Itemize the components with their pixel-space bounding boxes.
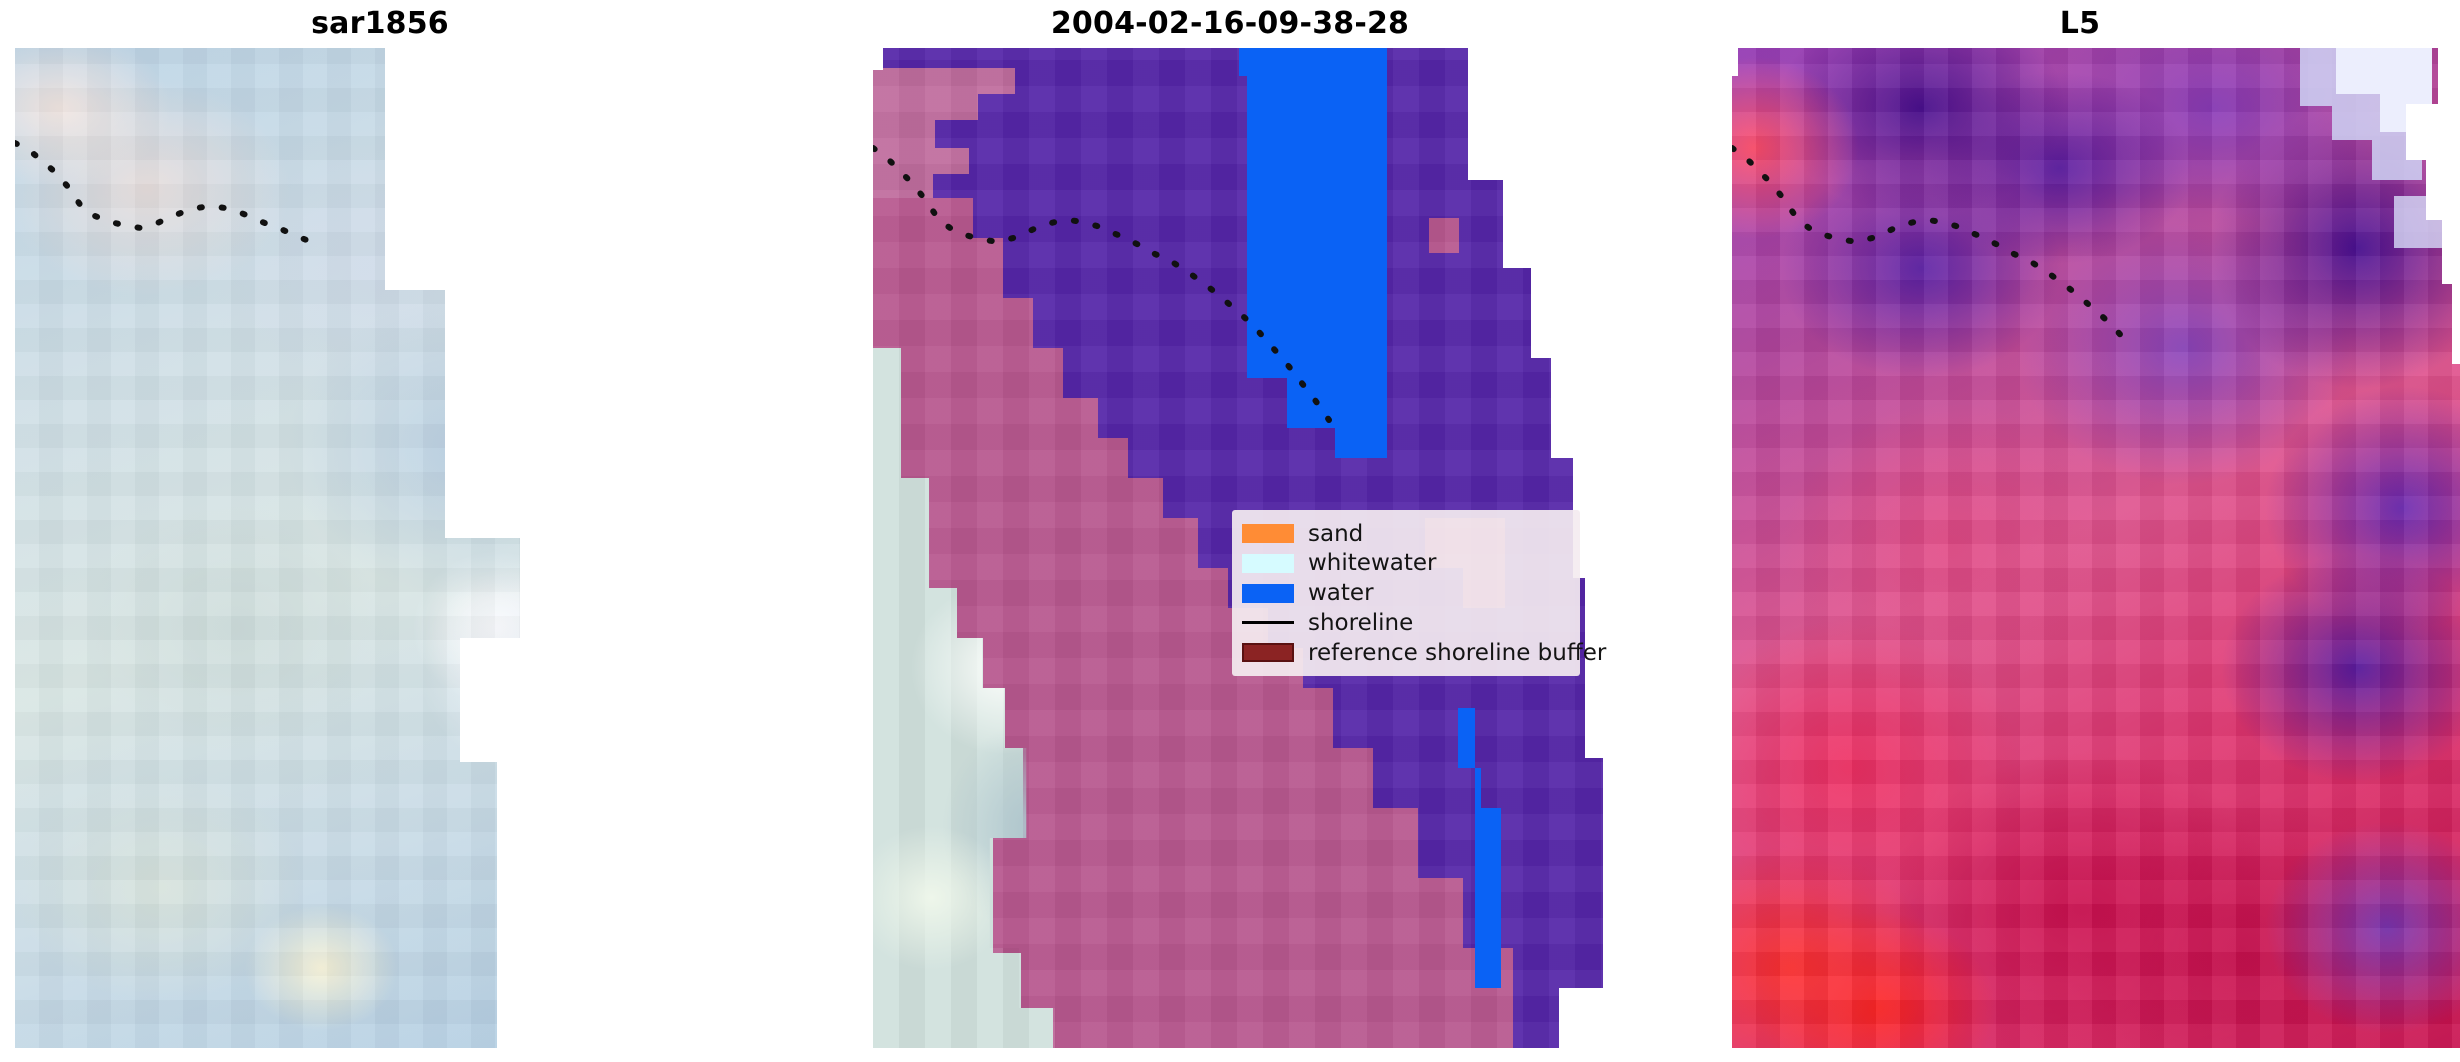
l5-nodata-a (2438, 48, 2460, 104)
classified-nodata-a (1468, 48, 1603, 180)
legend-label-shoreline: shoreline (1308, 610, 1413, 636)
classified-nodata-f (1585, 578, 1603, 758)
panel-classified: 2004-02-16-09-38-28 (850, 0, 1610, 1062)
l5-nodata-d (2442, 220, 2460, 284)
l5-nodata-f (1732, 48, 1738, 76)
panel-l5-axes[interactable] (1732, 48, 2460, 1048)
l5-pale-corner-layer (1732, 48, 2460, 1048)
shoreline-line-icon (1242, 613, 1294, 632)
classified-nodata-h (873, 48, 883, 70)
legend-item-reference-buffer[interactable]: reference shoreline buffer (1242, 638, 1568, 667)
rgb-nodata-14 (520, 48, 745, 1048)
legend-item-shoreline[interactable]: shoreline (1242, 608, 1568, 637)
classified-nodata-d (1551, 358, 1603, 458)
panel-rgb-title: sar1856 (0, 6, 760, 42)
reference-buffer-swatch-icon (1242, 643, 1294, 662)
whitewater-swatch-icon (1242, 554, 1294, 573)
legend-label-water: water (1308, 580, 1374, 606)
legend-label-reference-buffer: reference shoreline buffer (1308, 640, 1606, 666)
water-swatch-icon (1242, 584, 1294, 603)
classified-nodata-b (1503, 180, 1603, 268)
panel-classified-title: 2004-02-16-09-38-28 (850, 6, 1610, 42)
classified-nodata-c (1531, 268, 1603, 358)
figure-canvas: sar1856 (0, 0, 2460, 1062)
legend-item-water[interactable]: water (1242, 579, 1568, 608)
classified-nodata-g (1559, 988, 1603, 1048)
legend-item-sand[interactable]: sand (1242, 519, 1568, 548)
panel-rgb-axes[interactable] (15, 48, 745, 1048)
legend-label-sand: sand (1308, 521, 1363, 547)
l5-nodata-b (2406, 104, 2460, 160)
panel-rgb: sar1856 (0, 0, 760, 1062)
sand-swatch-icon (1242, 524, 1294, 543)
legend-box[interactable]: sand whitewater water shoreline referenc… (1232, 510, 1580, 676)
panel-l5: L5 (1700, 0, 2460, 1062)
rgb-nodata-4 (385, 48, 480, 290)
panel-l5-title: L5 (1700, 6, 2460, 42)
l5-nodata-c (2426, 160, 2460, 220)
legend-label-whitewater: whitewater (1308, 550, 1436, 576)
legend-item-whitewater[interactable]: whitewater (1242, 549, 1568, 578)
l5-nodata-e (2452, 284, 2460, 364)
